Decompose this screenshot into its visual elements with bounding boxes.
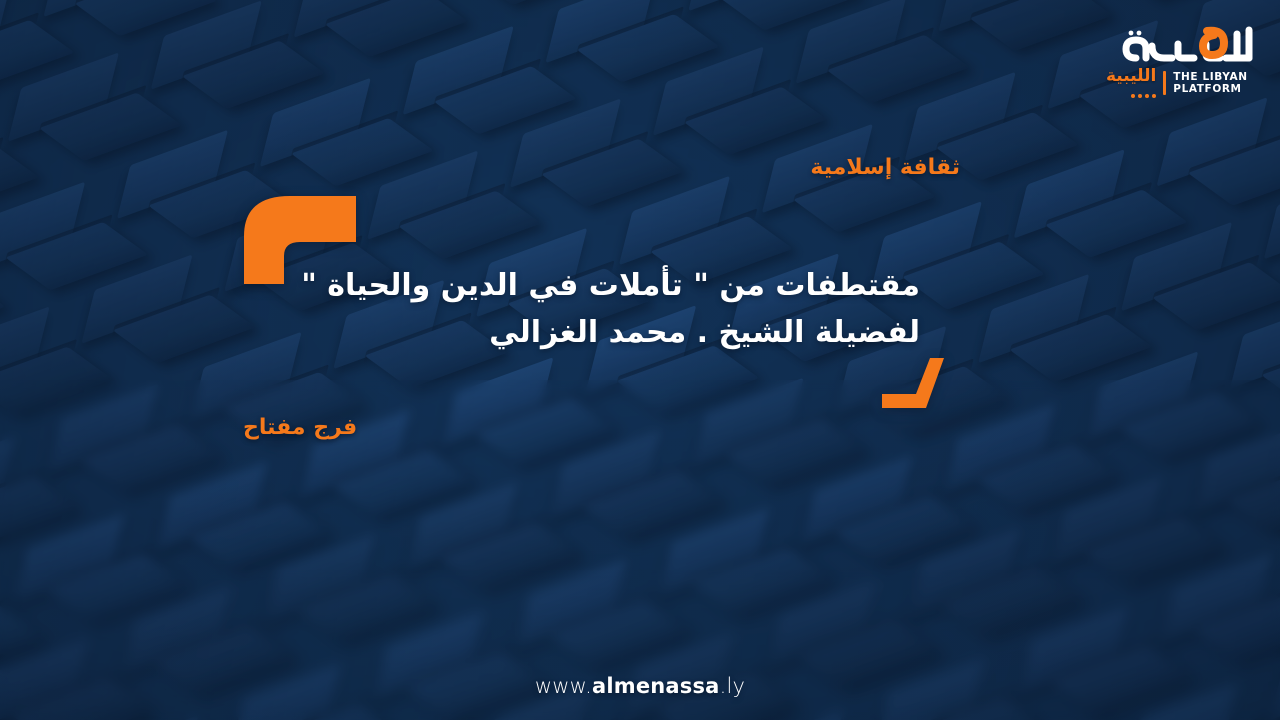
logo-subtitle-arabic: الليبية	[1106, 68, 1156, 85]
logo-subtitle-row: THE LIBYAN PLATFORM الليبية	[1106, 68, 1248, 98]
logo-subtitle-arabic-wrap: الليبية	[1106, 68, 1156, 98]
url-tld: .ly	[720, 674, 746, 698]
logo-dots-decoration	[1106, 94, 1156, 98]
chevron-pattern-layer	[0, 0, 1280, 720]
headline-line-1: مقتطفات من " تأملات في الدين والحياة "	[260, 262, 920, 309]
headline-line-2: لفضيلة الشيخ . محمد الغزالي	[260, 309, 920, 356]
brand-logo: THE LIBYAN PLATFORM الليبية	[1106, 24, 1256, 98]
url-prefix: www.	[535, 674, 592, 698]
author-name: فرج مفتاح	[243, 415, 357, 441]
footer-website-url[interactable]: www.almenassa.ly	[0, 674, 1280, 698]
logo-subtitle-english-line1: THE LIBYAN	[1173, 71, 1247, 83]
quote-card: THE LIBYAN PLATFORM الليبية ثقافة إسلامي…	[0, 0, 1280, 720]
headline: مقتطفات من " تأملات في الدين والحياة " ل…	[260, 262, 920, 356]
logo-wordmark-arabic	[1106, 24, 1256, 66]
logo-subtitle-english: THE LIBYAN PLATFORM	[1173, 71, 1247, 95]
category-label: ثقافة إسلامية	[810, 155, 960, 181]
background-pattern	[0, 0, 1280, 720]
closing-quotation-mark	[882, 358, 944, 408]
logo-subtitle-english-line2: PLATFORM	[1173, 83, 1247, 95]
url-domain-name: almenassa	[592, 674, 720, 698]
logo-divider-bar	[1163, 71, 1166, 95]
